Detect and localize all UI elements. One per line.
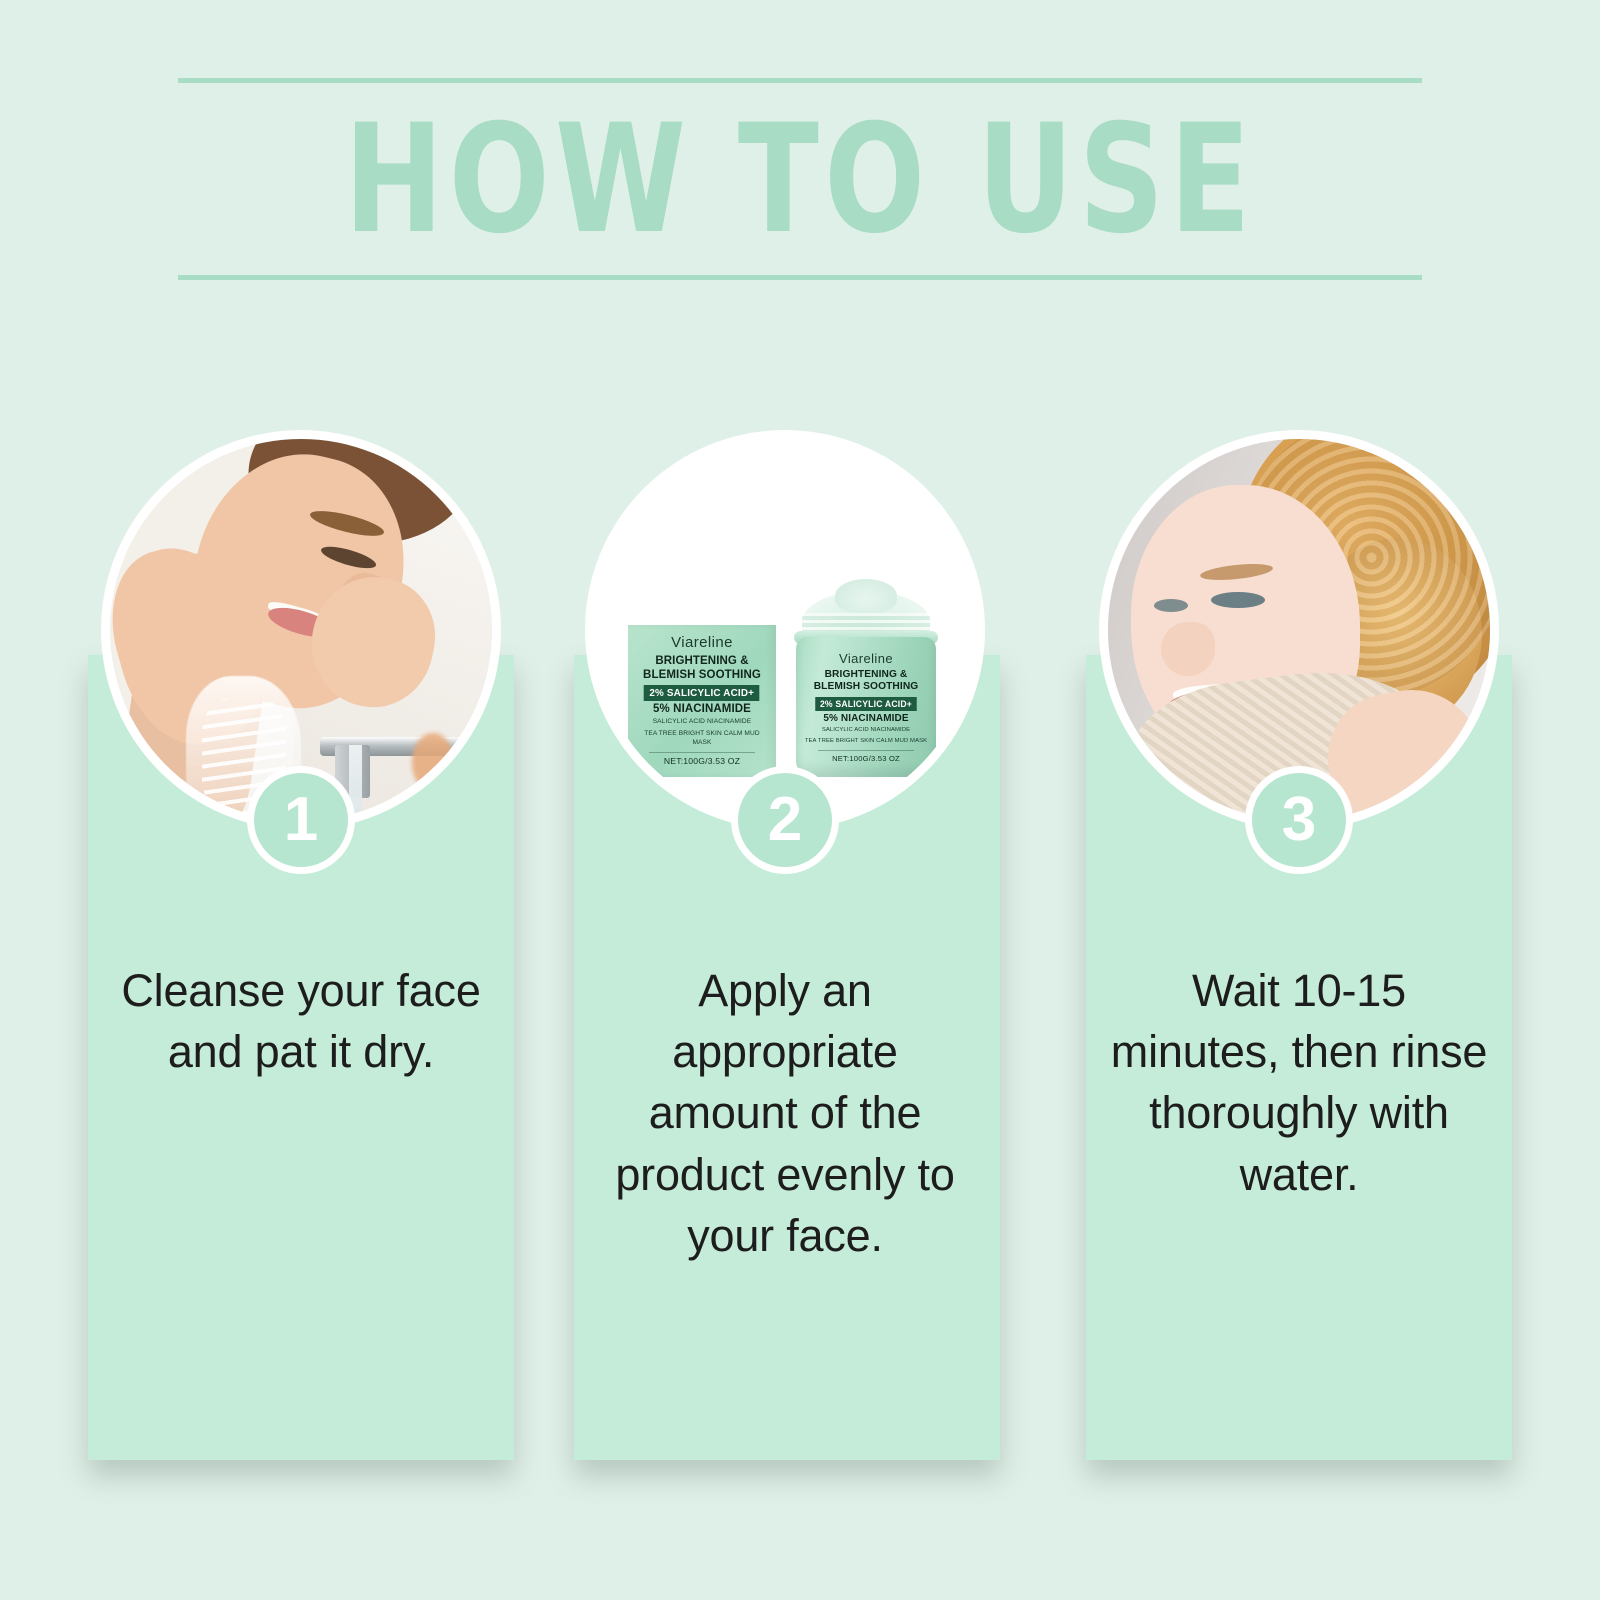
step-caption-3: Wait 10-15 minutes, then rinse thoroughl… — [1110, 960, 1488, 1205]
title-rule-bottom — [178, 275, 1422, 280]
product-box: Viareline BRIGHTENING & BLEMISH SOOTHING… — [628, 625, 776, 777]
woman-washing-face-photo — [110, 439, 492, 821]
product-box-active: 5% NIACINAMIDE — [653, 703, 751, 715]
product-box-desc-2: TEA TREE BRIGHT SKIN CALM MUD MASK — [634, 730, 770, 748]
product-box-net: NET:100G/3.53 OZ — [664, 756, 740, 766]
product-box-brand: Viareline — [671, 634, 733, 651]
product-jar-divider — [818, 750, 915, 751]
step-card-3: 3 Wait 10-15 minutes, then rinse thoroug… — [1086, 430, 1512, 1490]
product-jar-brand: Viareline — [839, 651, 893, 666]
product-jar-name-1: BRIGHTENING & — [825, 669, 908, 681]
steps-container: 1 Cleanse your face and pat it dry. Viar… — [0, 430, 1600, 1500]
product-jar-active: 5% NIACINAMIDE — [823, 713, 908, 724]
woman-with-towel-photo — [1108, 439, 1490, 821]
product-jar-net: NET:100G/3.53 OZ — [832, 754, 900, 763]
product-box-desc-1: SALICYLIC ACID NIACINAMIDE — [653, 718, 752, 727]
step-number-badge-2: 2 — [731, 766, 839, 874]
product-jar-banner: 2% SALICYLIC ACID+ — [815, 697, 916, 711]
product-jar: Viareline BRIGHTENING & BLEMISH SOOTHING… — [790, 591, 942, 777]
step-caption-2: Apply an appropriate amount of the produ… — [596, 960, 974, 1266]
step-card-1: 1 Cleanse your face and pat it dry. — [88, 430, 514, 1490]
step-number-badge-3: 3 — [1245, 766, 1353, 874]
header: HOW TO USE — [178, 78, 1422, 280]
step-number-badge-1: 1 — [247, 766, 355, 874]
product-box-name-2: BLEMISH SOOTHING — [643, 668, 761, 682]
product-box-banner: 2% SALICYLIC ACID+ — [644, 685, 760, 701]
product-box-divider — [649, 752, 755, 753]
page-title: HOW TO USE — [253, 83, 1348, 275]
step-card-2: Viareline BRIGHTENING & BLEMISH SOOTHING… — [572, 430, 998, 1490]
product-jar-name-2: BLEMISH SOOTHING — [814, 681, 919, 693]
step-caption-1: Cleanse your face and pat it dry. — [112, 960, 490, 1082]
product-group: Viareline BRIGHTENING & BLEMISH SOOTHING… — [594, 591, 976, 777]
product-box-name-1: BRIGHTENING & — [655, 654, 748, 668]
product-jar-desc-2: TEA TREE BRIGHT SKIN CALM MUD MASK — [805, 738, 927, 746]
product-jar-desc-1: SALICYLIC ACID NIACINAMIDE — [822, 727, 910, 735]
